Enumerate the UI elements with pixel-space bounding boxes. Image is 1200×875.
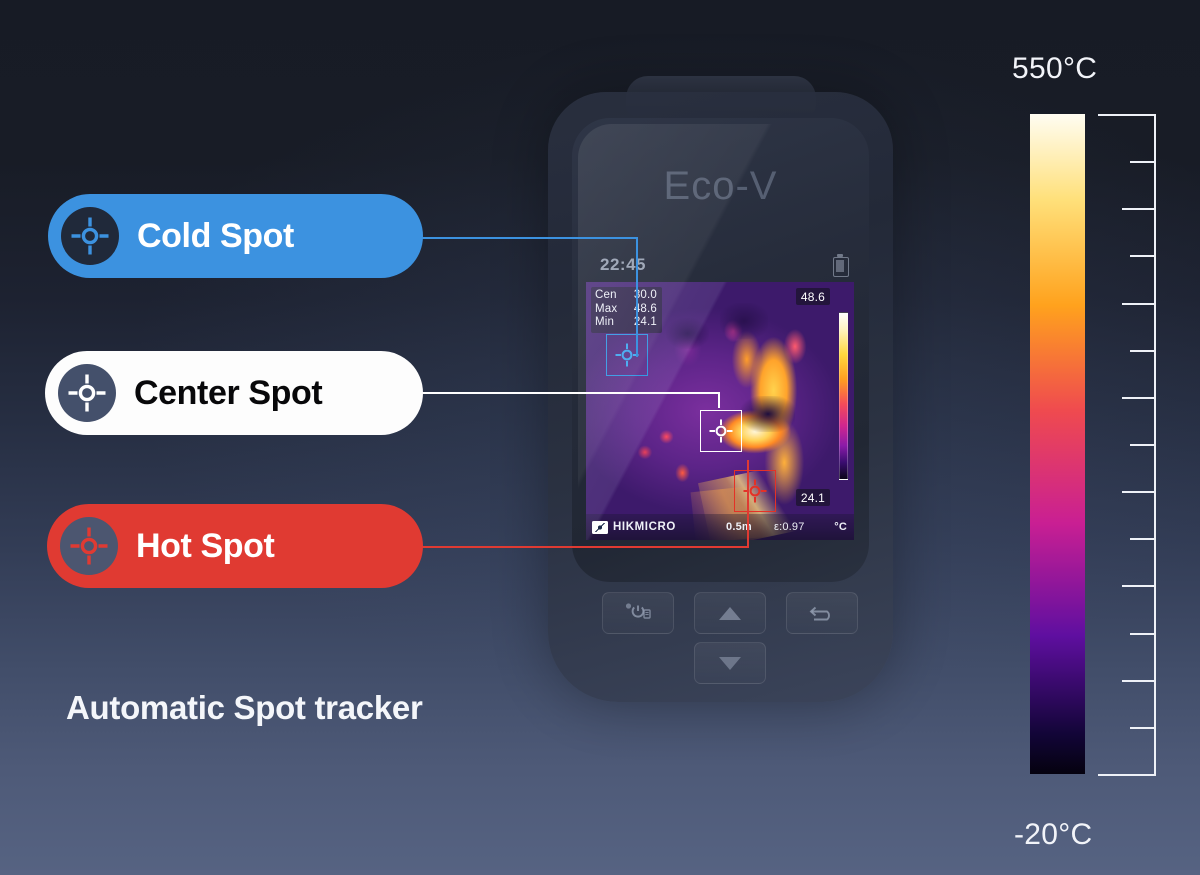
onscreen-color-bar bbox=[839, 312, 848, 480]
back-button[interactable] bbox=[786, 592, 858, 634]
device-button-cluster bbox=[578, 584, 863, 680]
callout-label: Cold Spot bbox=[137, 217, 294, 256]
temperature-scale: 550°C -20°C bbox=[1008, 52, 1158, 852]
readout-row-center: Cen 30.0 bbox=[595, 289, 657, 303]
axis-tick bbox=[1130, 161, 1156, 163]
thermal-detail-c bbox=[741, 396, 795, 432]
callout-label: Center Spot bbox=[134, 374, 322, 413]
temperature-color-bar bbox=[1030, 114, 1085, 774]
callout-hot-spot[interactable]: Hot Spot bbox=[47, 504, 423, 588]
thermal-screen[interactable]: Cen 30.0 Max 48.6 Min 24.1 48.6 24.1 bbox=[586, 282, 854, 540]
crosshair-icon bbox=[60, 517, 118, 575]
scale-high-badge: 48.6 bbox=[796, 288, 830, 305]
axis-tick bbox=[1122, 680, 1156, 682]
brand-name: HIKMICRO bbox=[613, 521, 676, 533]
axis-tick bbox=[1130, 727, 1156, 729]
axis-tick bbox=[1122, 397, 1156, 399]
emissivity-value: ε:0.97 bbox=[774, 521, 805, 533]
device-model-label: Eco-V bbox=[548, 164, 893, 209]
scale-max-label: 550°C bbox=[1012, 52, 1097, 86]
scale-low-badge: 24.1 bbox=[796, 489, 830, 506]
crosshair-icon bbox=[708, 418, 734, 444]
crosshair-icon bbox=[58, 364, 116, 422]
callout-center-spot[interactable]: Center Spot bbox=[45, 351, 423, 435]
cold-spot-marker[interactable] bbox=[606, 334, 648, 376]
scale-axis bbox=[1098, 114, 1156, 774]
hikmicro-logo-icon bbox=[592, 521, 608, 534]
thermal-detail-b bbox=[720, 303, 768, 339]
down-button[interactable] bbox=[694, 642, 766, 684]
up-button[interactable] bbox=[694, 592, 766, 634]
device-clock: 22:45 bbox=[600, 255, 646, 275]
hot-spot-marker[interactable] bbox=[734, 470, 776, 512]
axis-tick bbox=[1098, 114, 1156, 116]
thermal-detail-a bbox=[666, 318, 709, 349]
axis-tick bbox=[1130, 444, 1156, 446]
page-caption: Automatic Spot tracker bbox=[66, 684, 466, 731]
axis-tick bbox=[1122, 208, 1156, 210]
readout-key: Min bbox=[595, 316, 625, 330]
triangle-down-icon bbox=[719, 657, 741, 670]
readout-value: 24.1 bbox=[625, 316, 657, 330]
power-capture-icon bbox=[625, 601, 651, 625]
screen-status-bar: HIKMICRO 0.5m ε:0.97 °C bbox=[586, 514, 854, 540]
callout-cold-spot[interactable]: Cold Spot bbox=[48, 194, 423, 278]
crosshair-icon bbox=[742, 478, 768, 504]
readout-row-max: Max 48.6 bbox=[595, 303, 657, 317]
readout-value: 48.6 bbox=[625, 303, 657, 317]
readout-row-min: Min 24.1 bbox=[595, 316, 657, 330]
axis-tick bbox=[1130, 538, 1156, 540]
power-capture-button[interactable] bbox=[602, 592, 674, 634]
back-arrow-icon bbox=[808, 603, 836, 623]
axis-tick bbox=[1098, 774, 1156, 776]
temperature-readout-panel: Cen 30.0 Max 48.6 Min 24.1 bbox=[591, 287, 662, 333]
thermal-camera-device: Eco-V 22:45 Cen 30.0 Max 48.6 Min 24.1 bbox=[548, 92, 893, 702]
readout-value: 30.0 bbox=[625, 289, 657, 303]
axis-tick bbox=[1122, 491, 1156, 493]
readout-key: Cen bbox=[595, 289, 625, 303]
axis-tick bbox=[1130, 633, 1156, 635]
center-spot-marker[interactable] bbox=[700, 410, 742, 452]
callout-label: Hot Spot bbox=[136, 527, 274, 566]
unit-label: °C bbox=[834, 521, 847, 533]
scale-min-label: -20°C bbox=[1014, 818, 1093, 852]
axis-tick bbox=[1130, 255, 1156, 257]
axis-tick bbox=[1122, 303, 1156, 305]
triangle-up-icon bbox=[719, 607, 741, 620]
battery-icon bbox=[833, 255, 847, 275]
axis-tick bbox=[1130, 350, 1156, 352]
crosshair-icon bbox=[61, 207, 119, 265]
readout-key: Max bbox=[595, 303, 625, 317]
axis-tick bbox=[1122, 585, 1156, 587]
